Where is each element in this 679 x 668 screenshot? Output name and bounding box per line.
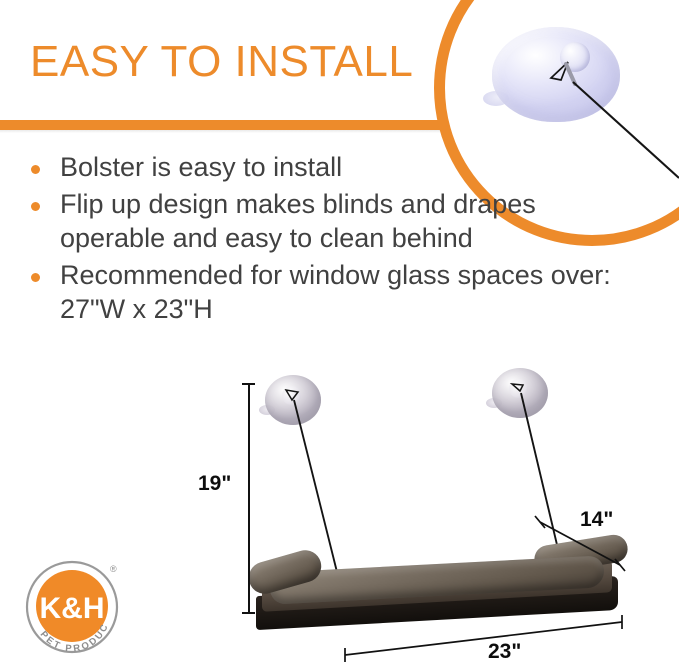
list-item-label: Recommended for window glass spaces over… bbox=[60, 260, 611, 325]
bullet-dot-icon bbox=[31, 165, 40, 174]
list-item: Bolster is easy to install bbox=[28, 150, 614, 185]
dimension-label-width: 23" bbox=[488, 640, 521, 664]
feature-list: Bolster is easy to install Flip up desig… bbox=[28, 150, 614, 329]
list-item: Recommended for window glass spaces over… bbox=[28, 258, 614, 327]
bullet-dot-icon bbox=[31, 273, 40, 282]
logo-initials: K&H bbox=[40, 592, 105, 625]
list-item-label: Flip up design makes blinds and drapes o… bbox=[60, 189, 536, 254]
bullet-dot-icon bbox=[31, 202, 40, 211]
list-item-label: Bolster is easy to install bbox=[60, 152, 342, 182]
list-item: Flip up design makes blinds and drapes o… bbox=[28, 187, 614, 256]
logo-trademark: ® bbox=[110, 564, 117, 574]
brand-logo: K&H ® PET PRODUCTS bbox=[22, 560, 122, 660]
